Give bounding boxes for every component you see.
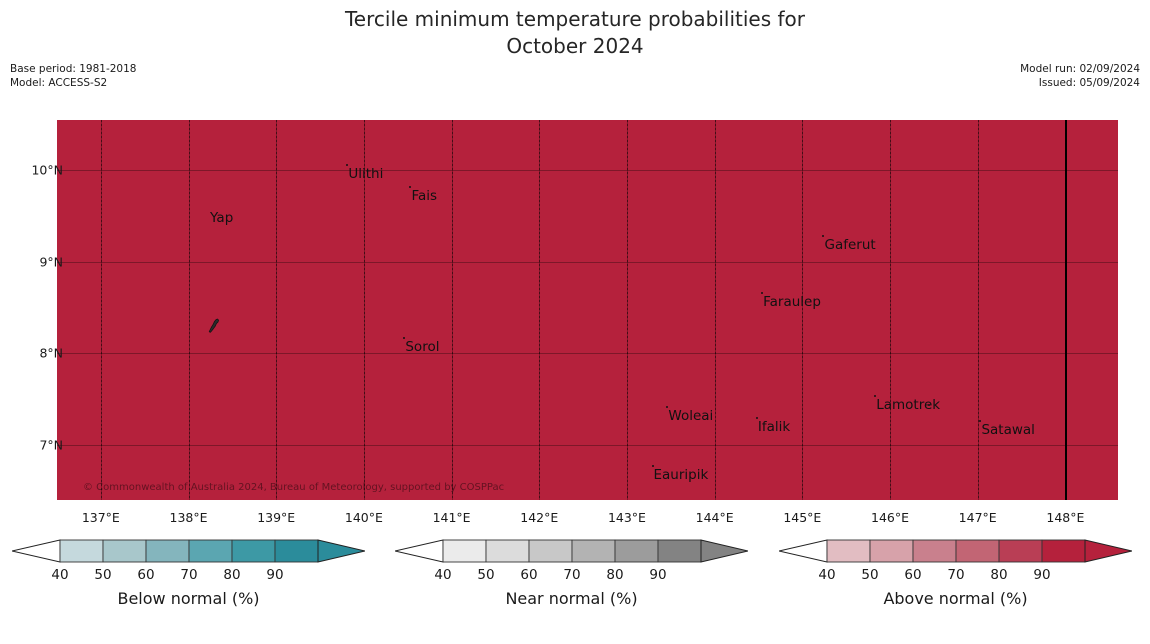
colorbar-tick-below-normal-40: 40 <box>51 567 68 583</box>
colorbar-label-above-normal: Above normal (%) <box>779 589 1132 608</box>
gridline-lat-7 <box>57 445 1118 446</box>
lon-tick-144: 144°E <box>696 510 734 525</box>
map-panel[interactable]: YapUlithiFaisSorolGaferutFaraulepWoleaiI… <box>57 120 1118 500</box>
place-label-ifalik: Ifalik <box>758 421 790 435</box>
colorbar-near-normal[interactable]: 405060708090Near normal (%) <box>395 536 748 608</box>
place-label-eauripik: Eauripik <box>654 469 709 483</box>
gridline-lon-143 <box>627 120 628 500</box>
colorbar-ticks-near-normal: 405060708090 <box>395 567 748 585</box>
gridline-lon-145 <box>802 120 803 500</box>
colorbar-tick-above-normal-80: 80 <box>990 567 1007 583</box>
lat-tick-7: 7°N <box>39 438 63 453</box>
colorbar-tick-above-normal-50: 50 <box>861 567 878 583</box>
lon-tick-148: 148°E <box>1046 510 1084 525</box>
lon-tick-139: 139°E <box>257 510 295 525</box>
lon-tick-143: 143°E <box>608 510 646 525</box>
colorbar-tick-near-normal-70: 70 <box>563 567 580 583</box>
copyright-notice: © Commonwealth of Australia 2024, Bureau… <box>83 482 504 493</box>
gridline-lon-144 <box>715 120 716 500</box>
lon-tick-141: 141°E <box>433 510 471 525</box>
gridline-lon-139 <box>276 120 277 500</box>
colorbar-label-near-normal: Near normal (%) <box>395 589 748 608</box>
colorbar-tick-above-normal-70: 70 <box>947 567 964 583</box>
page-title: Tercile minimum temperature probabilitie… <box>0 6 1150 60</box>
colorbar-label-below-normal: Below normal (%) <box>12 589 365 608</box>
colorbar-tick-below-normal-70: 70 <box>180 567 197 583</box>
lon-tick-140: 140°E <box>345 510 383 525</box>
metadata-left: Base period: 1981-2018 Model: ACCESS-S2 <box>10 62 136 90</box>
gridline-lon-147 <box>978 120 979 500</box>
place-label-ulithi: Ulithi <box>348 168 383 182</box>
colorbar-tick-below-normal-50: 50 <box>94 567 111 583</box>
colorbar-strip-above-normal <box>779 536 1132 566</box>
gridline-lon-146 <box>890 120 891 500</box>
place-label-sorol: Sorol <box>405 341 439 355</box>
colorbar-tick-below-normal-60: 60 <box>137 567 154 583</box>
lat-tick-8: 8°N <box>39 346 63 361</box>
colorbar-above-normal[interactable]: 405060708090Above normal (%) <box>779 536 1132 608</box>
colorbar-tick-above-normal-90: 90 <box>1033 567 1050 583</box>
gridline-lon-138 <box>189 120 190 500</box>
lon-tick-146: 146°E <box>871 510 909 525</box>
place-label-gaferut: Gaferut <box>824 239 875 253</box>
colorbar-tick-above-normal-40: 40 <box>818 567 835 583</box>
colorbar-tick-below-normal-80: 80 <box>223 567 240 583</box>
place-label-faraulep: Faraulep <box>763 296 821 310</box>
place-label-lamotrek: Lamotrek <box>876 399 940 413</box>
place-label-yap: Yap <box>210 212 233 226</box>
place-label-woleai: Woleai <box>668 410 713 424</box>
gridline-lat-8 <box>57 353 1118 354</box>
gridline-lat-9 <box>57 262 1118 263</box>
place-label-fais: Fais <box>411 190 437 204</box>
lon-tick-142: 142°E <box>520 510 558 525</box>
lon-tick-138: 138°E <box>170 510 208 525</box>
colorbar-below-normal[interactable]: 405060708090Below normal (%) <box>12 536 365 608</box>
lat-tick-10: 10°N <box>31 163 63 178</box>
gridline-lon-137 <box>101 120 102 500</box>
colorbar-tick-above-normal-60: 60 <box>904 567 921 583</box>
colorbar-strip-below-normal <box>12 536 365 566</box>
colorbar-tick-below-normal-90: 90 <box>266 567 283 583</box>
gridline-lat-10 <box>57 170 1118 171</box>
colorbar-tick-near-normal-90: 90 <box>649 567 666 583</box>
metadata-right: Model run: 02/09/2024 Issued: 05/09/2024 <box>1020 62 1140 90</box>
date-line-marker <box>1065 120 1067 500</box>
gridline-lon-141 <box>452 120 453 500</box>
lon-tick-137: 137°E <box>82 510 120 525</box>
colorbar-tick-near-normal-40: 40 <box>434 567 451 583</box>
lat-tick-9: 9°N <box>39 254 63 269</box>
lon-tick-145: 145°E <box>783 510 821 525</box>
colorbar-ticks-above-normal: 405060708090 <box>779 567 1132 585</box>
gridline-lon-142 <box>539 120 540 500</box>
place-marker-unlabeled <box>928 404 930 406</box>
colorbar-tick-near-normal-60: 60 <box>520 567 537 583</box>
colorbar-strip-near-normal <box>395 536 748 566</box>
colorbar-tick-near-normal-50: 50 <box>477 567 494 583</box>
lon-tick-147: 147°E <box>959 510 997 525</box>
place-label-satawal: Satawal <box>981 424 1034 438</box>
yap-island-shape <box>207 318 221 334</box>
colorbar-tick-near-normal-80: 80 <box>606 567 623 583</box>
colorbar-ticks-below-normal: 405060708090 <box>12 567 365 585</box>
